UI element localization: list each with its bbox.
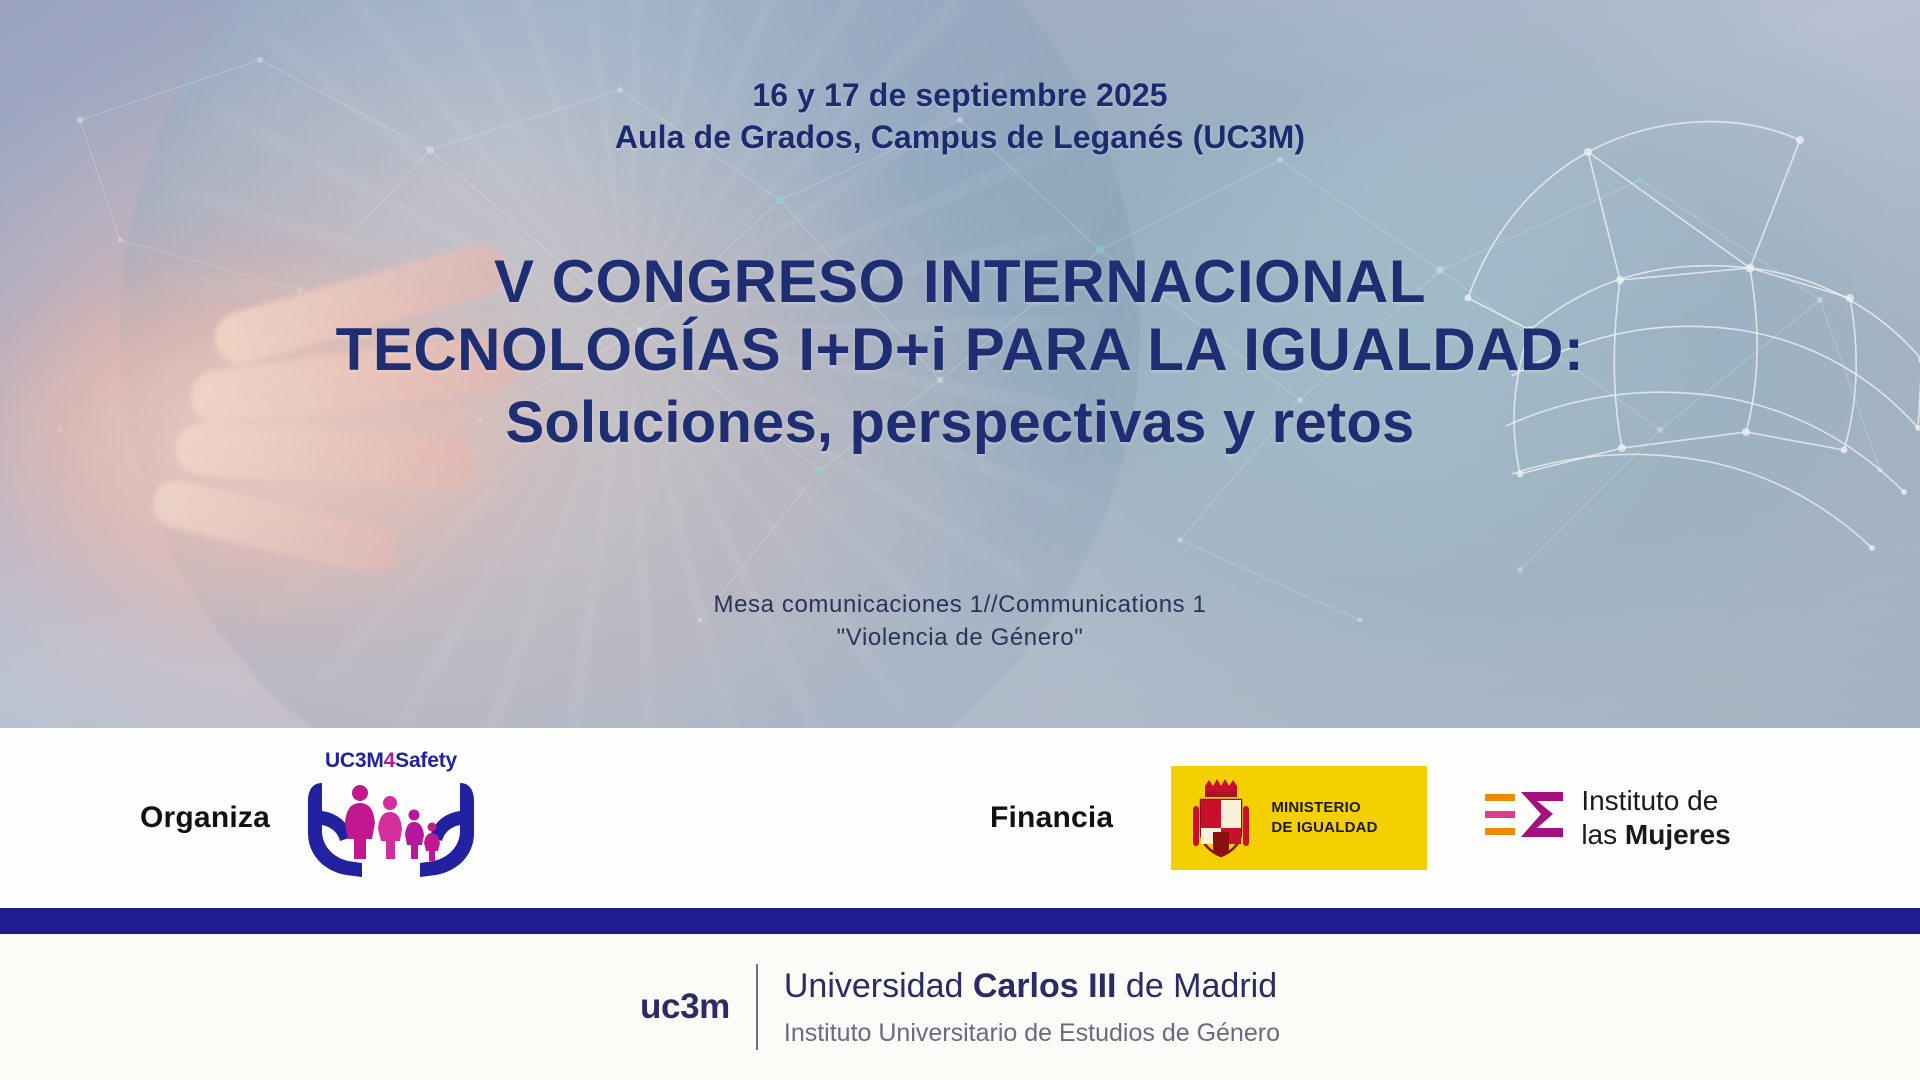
hero-background: 16 y 17 de septiembre 2025 Aula de Grado…: [0, 0, 1920, 728]
uc3m4safety-word-uc3m: UC3M: [325, 749, 384, 772]
uc3m4safety-word-safety: Safety: [395, 749, 457, 772]
title-line-1: V CONGRESO INTERNACIONAL: [0, 248, 1920, 316]
institute-name: Instituto Universitario de Estudios de G…: [784, 1016, 1280, 1052]
uc3m4safety-wordmark: UC3M4Safety: [325, 749, 457, 773]
lockup-divider: [756, 964, 758, 1050]
session-topic: "Violencia de Género": [0, 621, 1920, 654]
uc3m-footer: uc3m Universidad Carlos III de Madrid In…: [0, 934, 1920, 1080]
instituto-line-1: Instituto de: [1581, 784, 1730, 818]
hero-text-group: 16 y 17 de septiembre 2025 Aula de Grado…: [0, 0, 1920, 728]
session-info: Mesa comunicaciones 1//Communications 1 …: [0, 588, 1920, 654]
university-name: Universidad Carlos III de Madrid: [784, 962, 1280, 1010]
sigma-bars-icon: [1485, 784, 1567, 852]
ministerio-de-igualdad-logo: MINISTERIO DE IGUALDAD: [1171, 766, 1427, 870]
title-line-2: TECNOLOGÍAS I+D+i PARA LA IGUALDAD:: [0, 316, 1920, 384]
organiza-group: Organiza UC3M4Safety: [140, 753, 484, 883]
university-name-part-1: Universidad: [784, 967, 973, 1005]
uc3m-lockup: uc3m Universidad Carlos III de Madrid In…: [640, 962, 1280, 1052]
instituto-de-las-mujeres-logo: Instituto de las Mujeres: [1485, 784, 1730, 852]
navy-divider-bar: [0, 908, 1920, 934]
instituto-wordmark: Instituto de las Mujeres: [1581, 784, 1730, 851]
sponsor-band: Organiza UC3M4Safety: [0, 728, 1920, 908]
ministerio-line-1: MINISTERIO: [1271, 798, 1377, 818]
university-name-part-3: de Madrid: [1116, 967, 1277, 1005]
organiza-label: Organiza: [140, 801, 270, 835]
session-name: Mesa comunicaciones 1//Communications 1: [714, 591, 1207, 618]
event-date: 16 y 17 de septiembre 2025: [752, 77, 1167, 113]
congress-title: V CONGRESO INTERNACIONAL TECNOLOGÍAS I+D…: [0, 248, 1920, 461]
instituto-line-2-mujeres: Mujeres: [1625, 819, 1731, 850]
financia-group: Financia MIN: [990, 766, 1731, 870]
uc3m-names: Universidad Carlos III de Madrid Institu…: [784, 962, 1280, 1052]
instituto-line-2-las: las: [1581, 819, 1625, 850]
uc3m4safety-word-4: 4: [384, 749, 395, 772]
instituto-line-2: las Mujeres: [1581, 818, 1730, 852]
spain-coat-of-arms-icon: [1183, 776, 1259, 860]
uc3m-mark: uc3m: [640, 987, 730, 1027]
ministerio-wordmark: MINISTERIO DE IGUALDAD: [1271, 798, 1377, 838]
event-date-venue: 16 y 17 de septiembre 2025 Aula de Grado…: [0, 74, 1920, 158]
conference-title-slide: 16 y 17 de septiembre 2025 Aula de Grado…: [0, 0, 1920, 1080]
uc3m4safety-logo: UC3M4Safety: [298, 753, 484, 883]
title-line-3: Soluciones, perspectivas y retos: [0, 385, 1920, 462]
protecting-hands-icon: [298, 775, 484, 881]
financia-label: Financia: [990, 801, 1113, 835]
university-name-part-2: Carlos III: [973, 967, 1117, 1005]
ministerio-line-2: DE IGUALDAD: [1271, 818, 1377, 838]
event-venue: Aula de Grados, Campus de Leganés (UC3M): [0, 116, 1920, 158]
